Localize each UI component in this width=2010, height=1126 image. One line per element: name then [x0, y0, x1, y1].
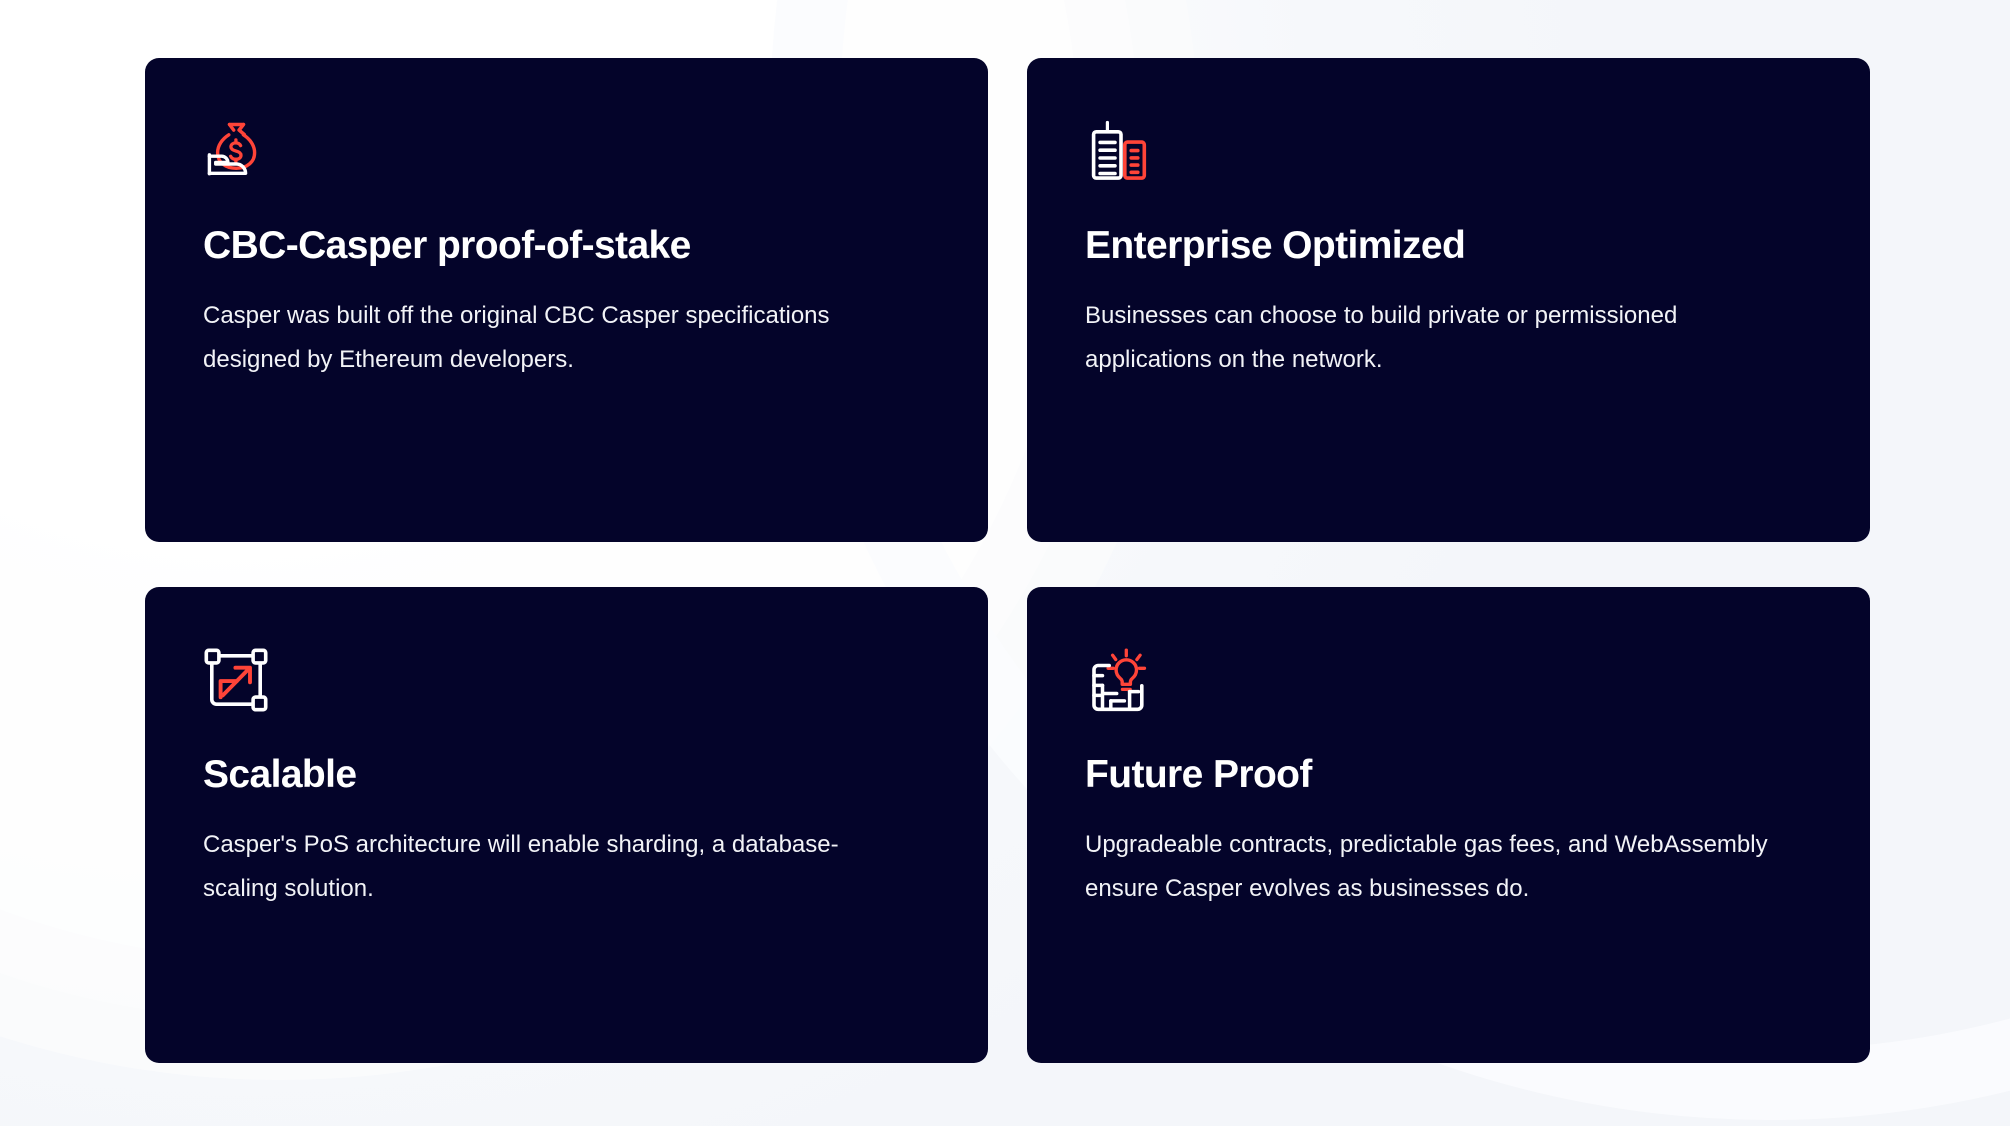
feature-card-proof-of-stake[interactable]: CBC-Casper proof-of-stake Casper was bui…: [145, 58, 988, 542]
lightbulb-circuit-icon: [1085, 647, 1151, 713]
feature-card-scalable[interactable]: Scalable Casper's PoS architecture will …: [145, 587, 988, 1063]
card-title: Scalable: [203, 753, 930, 797]
feature-card-enterprise-optimized[interactable]: Enterprise Optimized Businesses can choo…: [1027, 58, 1870, 542]
card-title: Enterprise Optimized: [1085, 224, 1812, 268]
money-bag-stake-icon: [203, 118, 269, 184]
card-description: Businesses can choose to build private o…: [1085, 294, 1775, 383]
feature-card-future-proof[interactable]: Future Proof Upgradeable contracts, pred…: [1027, 587, 1870, 1063]
office-buildings-icon: [1085, 118, 1151, 184]
card-title: CBC-Casper proof-of-stake: [203, 224, 930, 268]
card-title: Future Proof: [1085, 753, 1812, 797]
feature-card-grid: CBC-Casper proof-of-stake Casper was bui…: [145, 58, 1870, 1063]
card-description: Casper was built off the original CBC Ca…: [203, 294, 893, 383]
scale-arrow-frame-icon: [203, 647, 269, 713]
card-description: Casper's PoS architecture will enable sh…: [203, 823, 893, 912]
card-description: Upgradeable contracts, predictable gas f…: [1085, 823, 1775, 912]
